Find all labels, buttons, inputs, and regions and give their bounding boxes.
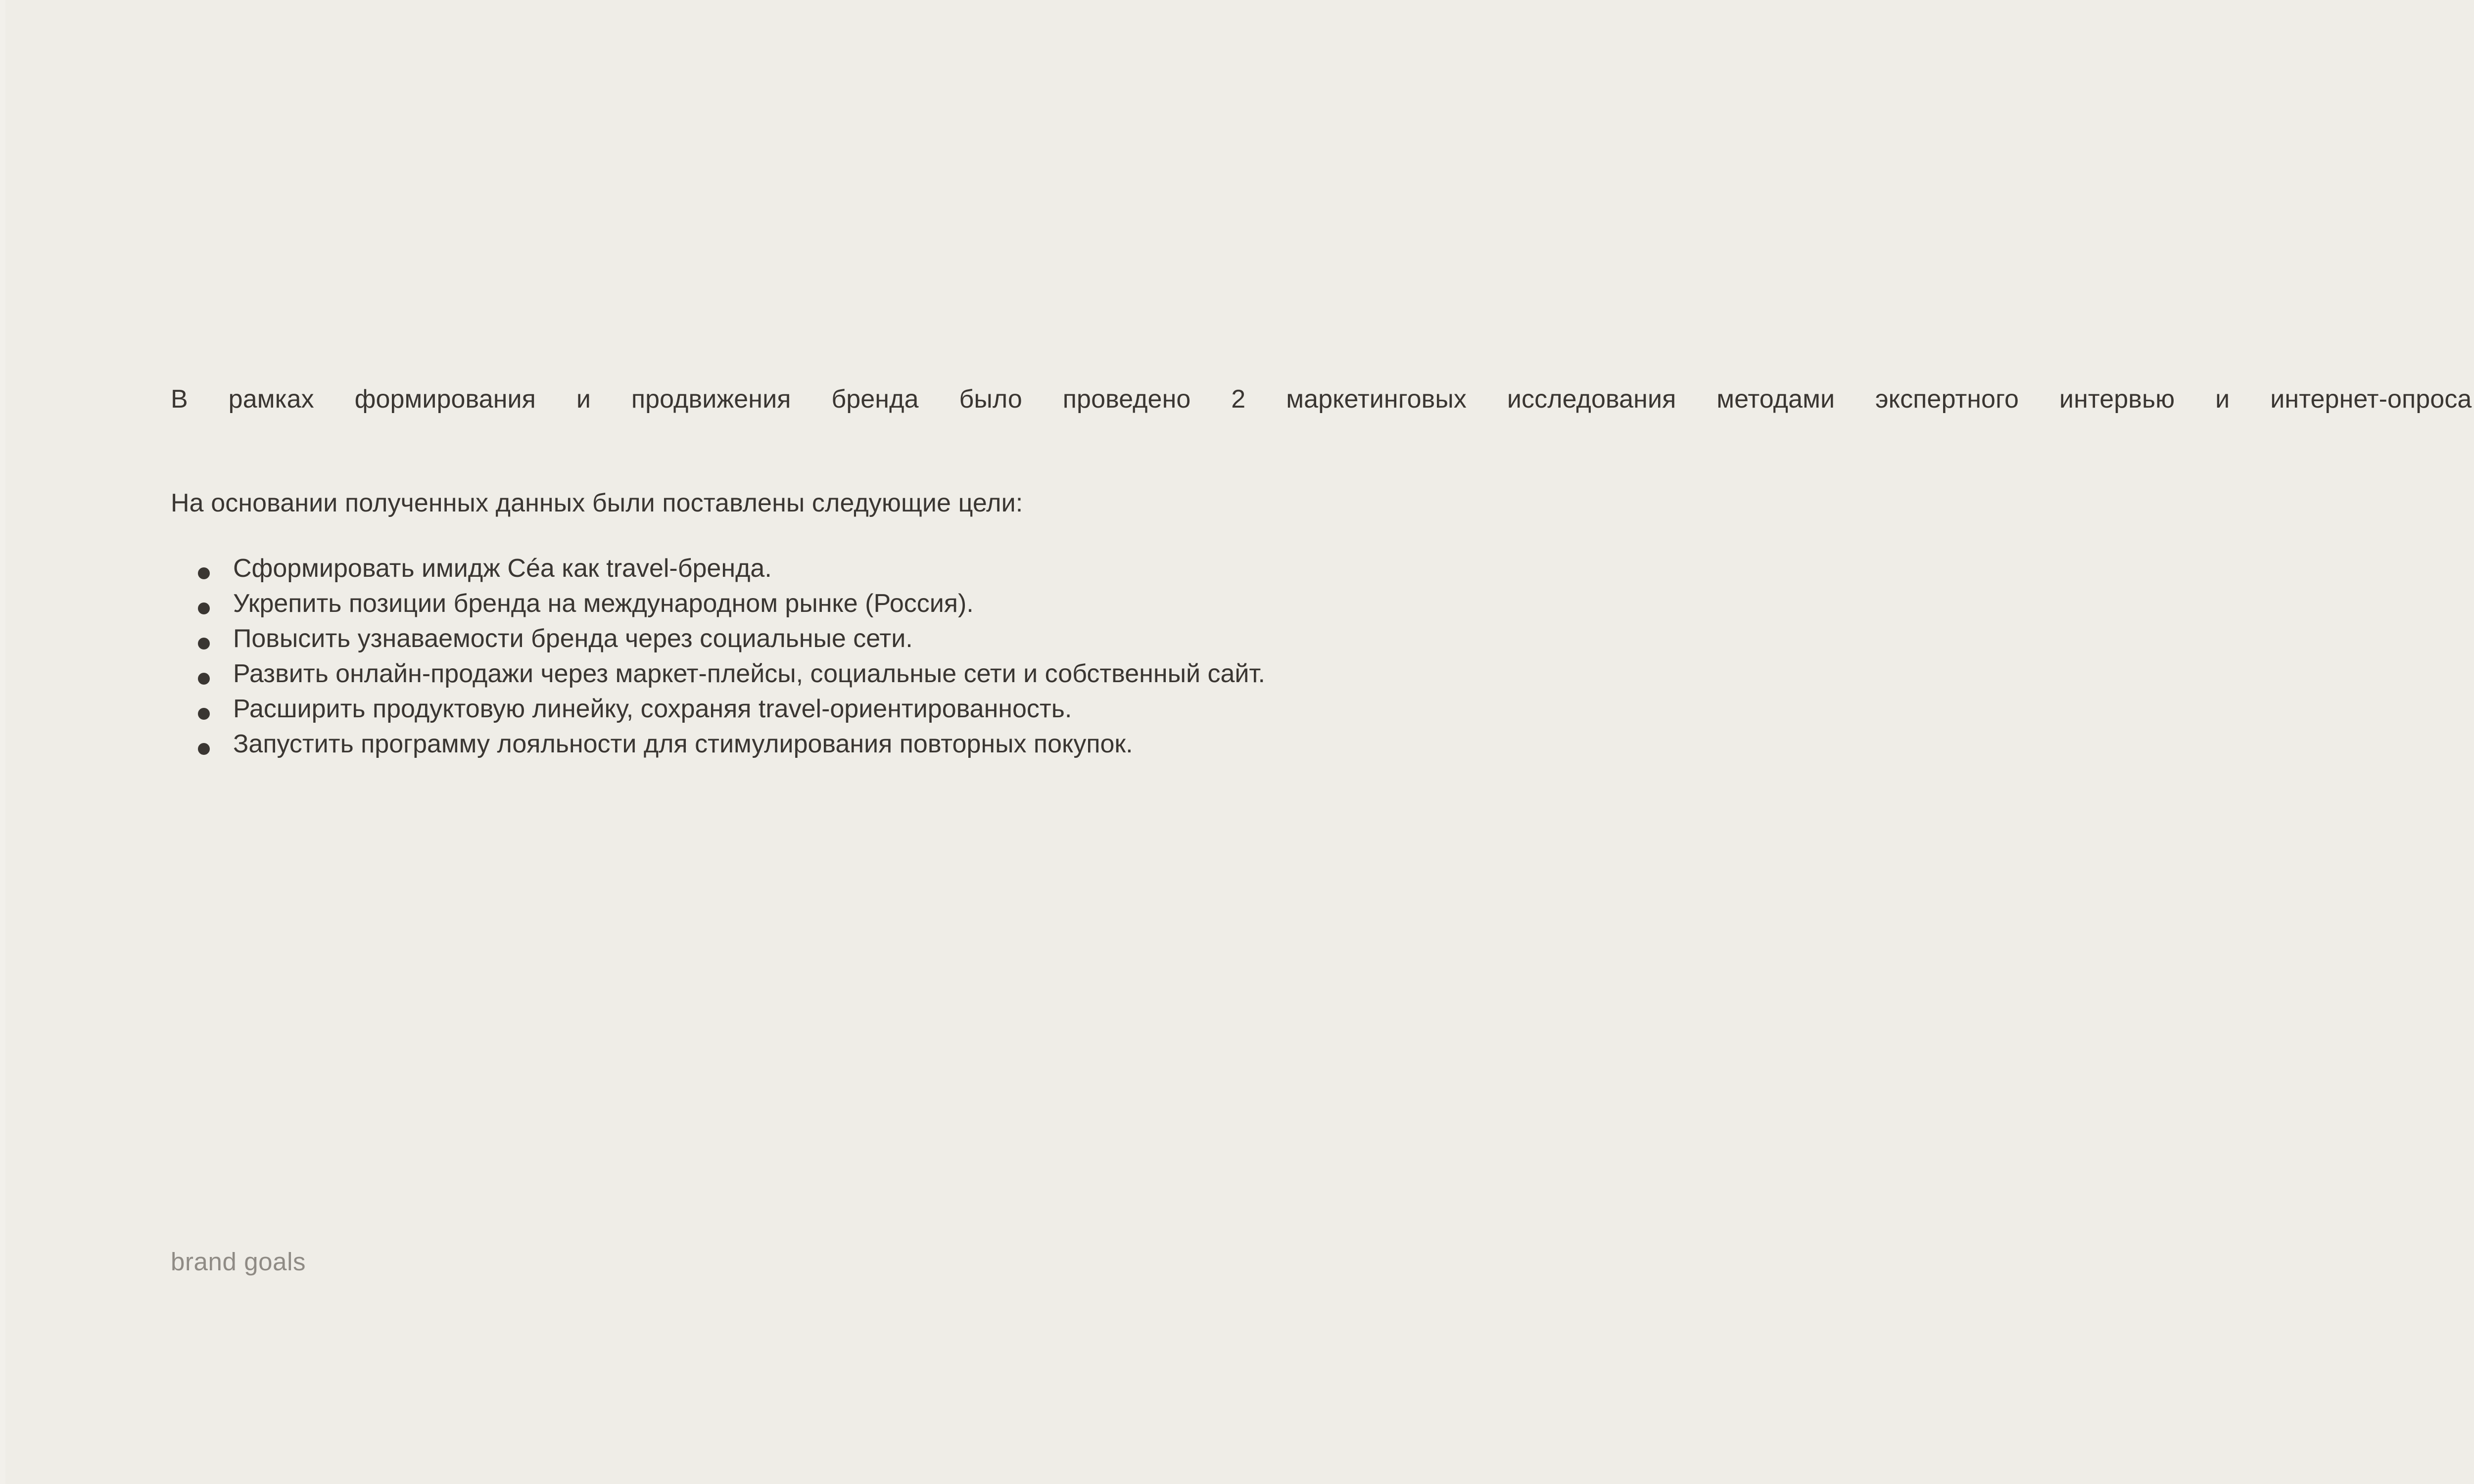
intro-paragraph: В рамках формирования и продвижения брен…: [171, 381, 2474, 454]
list-item: Расширить продуктовую линейку, сохраняя …: [171, 692, 2474, 727]
bullet-dot-icon: [198, 708, 210, 720]
content-column: В рамках формирования и продвижения брен…: [171, 381, 2474, 762]
list-item: Укрепить позиции бренда на международном…: [171, 586, 2474, 621]
list-item-label: Развить онлайн-продажи через маркет-плей…: [233, 659, 1265, 688]
list-item: Запустить программу лояльности для стиму…: [171, 727, 2474, 762]
list-item-label: Укрепить позиции бренда на международном…: [233, 589, 974, 618]
slide-canvas: В рамках формирования и продвижения брен…: [0, 0, 2474, 1484]
left-edge-strip: [0, 0, 5, 1484]
list-item-label: Сформировать имидж Céa как travel-бренда…: [233, 554, 772, 583]
list-item: Развить онлайн-продажи через маркет-плей…: [171, 656, 2474, 692]
list-item: Повысить узнаваемости бренда через социа…: [171, 621, 2474, 656]
list-item-label: Запустить программу лояльности для стиму…: [233, 730, 1133, 758]
bullet-dot-icon: [198, 567, 210, 579]
list-item-label: Повысить узнаваемости бренда через социа…: [233, 624, 913, 653]
lead-in-paragraph: На основании полученных данных были пост…: [171, 485, 2474, 521]
bullet-dot-icon: [198, 673, 210, 685]
list-item: Сформировать имидж Céa как travel-бренда…: [171, 551, 2474, 586]
bullet-dot-icon: [198, 603, 210, 614]
list-item-label: Расширить продуктовую линейку, сохраняя …: [233, 695, 1072, 723]
page-caption: brand goals: [171, 1247, 306, 1277]
goals-list: Сформировать имидж Céa как travel-бренда…: [171, 551, 2474, 762]
bullet-dot-icon: [198, 743, 210, 755]
bullet-dot-icon: [198, 638, 210, 649]
